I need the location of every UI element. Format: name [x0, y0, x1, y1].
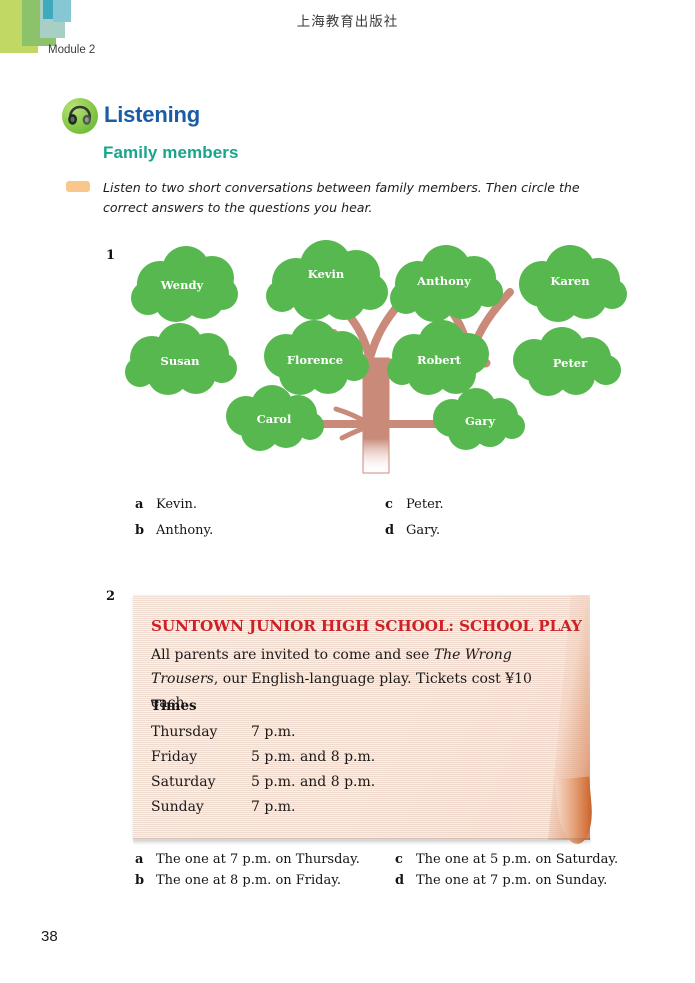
options-row: b The one at 8 p.m. on Friday. d The one…: [135, 873, 655, 888]
tree-label-gary: Gary: [465, 414, 495, 428]
instruction-marker-icon: [66, 181, 90, 192]
poster-body-before: All parents are invited to come and see: [151, 647, 434, 663]
tree-label-susan: Susan: [161, 354, 201, 368]
tree-node-wendy: Wendy: [131, 246, 238, 322]
tree-label-florence: Florence: [287, 353, 343, 367]
times-time: 5 p.m. and 8 p.m.: [251, 772, 375, 797]
page-number: 38: [41, 928, 58, 945]
option-letter: b: [135, 873, 156, 888]
option-letter: b: [135, 523, 156, 538]
tree-node-robert: Robert: [387, 320, 489, 395]
option-letter: c: [385, 497, 406, 512]
option-a[interactable]: a Kevin.: [135, 497, 385, 512]
option-text: The one at 8 p.m. on Friday.: [156, 873, 341, 888]
publisher-name: 上海教育出版社: [0, 10, 695, 30]
headphones-icon: [62, 98, 98, 134]
option-text: Gary.: [406, 523, 440, 538]
times-time: 7 p.m.: [251, 797, 375, 822]
option-b[interactable]: b Anthony.: [135, 523, 385, 538]
tree-label-peter: Peter: [553, 356, 588, 370]
option-letter: a: [135, 852, 156, 867]
table-row: Thursday 7 p.m.: [151, 722, 375, 747]
options-row: b Anthony. d Gary.: [135, 523, 635, 538]
instruction-text: Listen to two short conversations betwee…: [103, 178, 623, 218]
listening-title: Listening: [104, 102, 200, 128]
tree-label-karen: Karen: [550, 274, 590, 288]
family-members-subtitle: Family members: [103, 143, 239, 163]
options-row: a The one at 7 p.m. on Thursday. c The o…: [135, 852, 655, 867]
times-time: 7 p.m.: [251, 722, 375, 747]
question-number-2: 2: [106, 589, 115, 604]
tree-label-kevin: Kevin: [308, 267, 345, 281]
tree-node-florence: Florence: [264, 320, 369, 395]
poster-body-text: All parents are invited to come and see …: [151, 643, 566, 715]
question-number-1: 1: [106, 248, 115, 263]
times-day: Friday: [151, 747, 251, 772]
school-play-poster: SUNTOWN JUNIOR HIGH SCHOOL: SCHOOL PLAY …: [133, 595, 588, 840]
option-b[interactable]: b The one at 8 p.m. on Friday.: [135, 873, 395, 888]
poster-shadow: [133, 838, 591, 845]
poster-title: SUNTOWN JUNIOR HIGH SCHOOL: SCHOOL PLAY: [151, 617, 582, 635]
times-time: 5 p.m. and 8 p.m.: [251, 747, 375, 772]
option-c[interactable]: c The one at 5 p.m. on Saturday.: [395, 852, 655, 867]
option-d[interactable]: d Gary.: [385, 523, 635, 538]
options-row: a Kevin. c Peter.: [135, 497, 635, 512]
times-table: Thursday 7 p.m. Friday 5 p.m. and 8 p.m.…: [151, 722, 375, 822]
times-day: Saturday: [151, 772, 251, 797]
module-label: Module 2: [48, 44, 95, 56]
times-day: Thursday: [151, 722, 251, 747]
times-heading: Times: [151, 698, 197, 714]
option-text: The one at 7 p.m. on Thursday.: [156, 852, 360, 867]
table-row: Sunday 7 p.m.: [151, 797, 375, 822]
option-text: Peter.: [406, 497, 444, 512]
option-text: The one at 5 p.m. on Saturday.: [416, 852, 618, 867]
tree-label-carol: Carol: [257, 412, 292, 426]
tree-node-gary: Gary: [433, 388, 525, 450]
question-2-options: a The one at 7 p.m. on Thursday. c The o…: [135, 852, 655, 894]
tree-node-susan: Susan: [125, 323, 237, 395]
tree-node-anthony: Anthony: [390, 245, 503, 322]
option-a[interactable]: a The one at 7 p.m. on Thursday.: [135, 852, 395, 867]
times-day: Sunday: [151, 797, 251, 822]
option-text: Anthony.: [156, 523, 213, 538]
tree-node-peter: Peter: [513, 327, 621, 396]
tree-label-robert: Robert: [417, 353, 462, 367]
option-d[interactable]: d The one at 7 p.m. on Sunday.: [395, 873, 655, 888]
tree-label-wendy: Wendy: [160, 278, 204, 292]
question-1-options: a Kevin. c Peter. b Anthony. d Gary.: [135, 497, 635, 549]
option-letter: c: [395, 852, 416, 867]
option-text: The one at 7 p.m. on Sunday.: [416, 873, 607, 888]
option-letter: d: [395, 873, 416, 888]
tree-node-kevin: Kevin: [266, 240, 388, 320]
tree-label-anthony: Anthony: [416, 274, 471, 288]
family-tree-diagram: Wendy Kevin Susan: [118, 240, 638, 480]
tree-node-karen: Karen: [519, 245, 627, 322]
tree-node-carol: Carol: [226, 385, 324, 451]
option-letter: a: [135, 497, 156, 512]
option-c[interactable]: c Peter.: [385, 497, 635, 512]
option-text: Kevin.: [156, 497, 197, 512]
option-letter: d: [385, 523, 406, 538]
table-row: Friday 5 p.m. and 8 p.m.: [151, 747, 375, 772]
table-row: Saturday 5 p.m. and 8 p.m.: [151, 772, 375, 797]
